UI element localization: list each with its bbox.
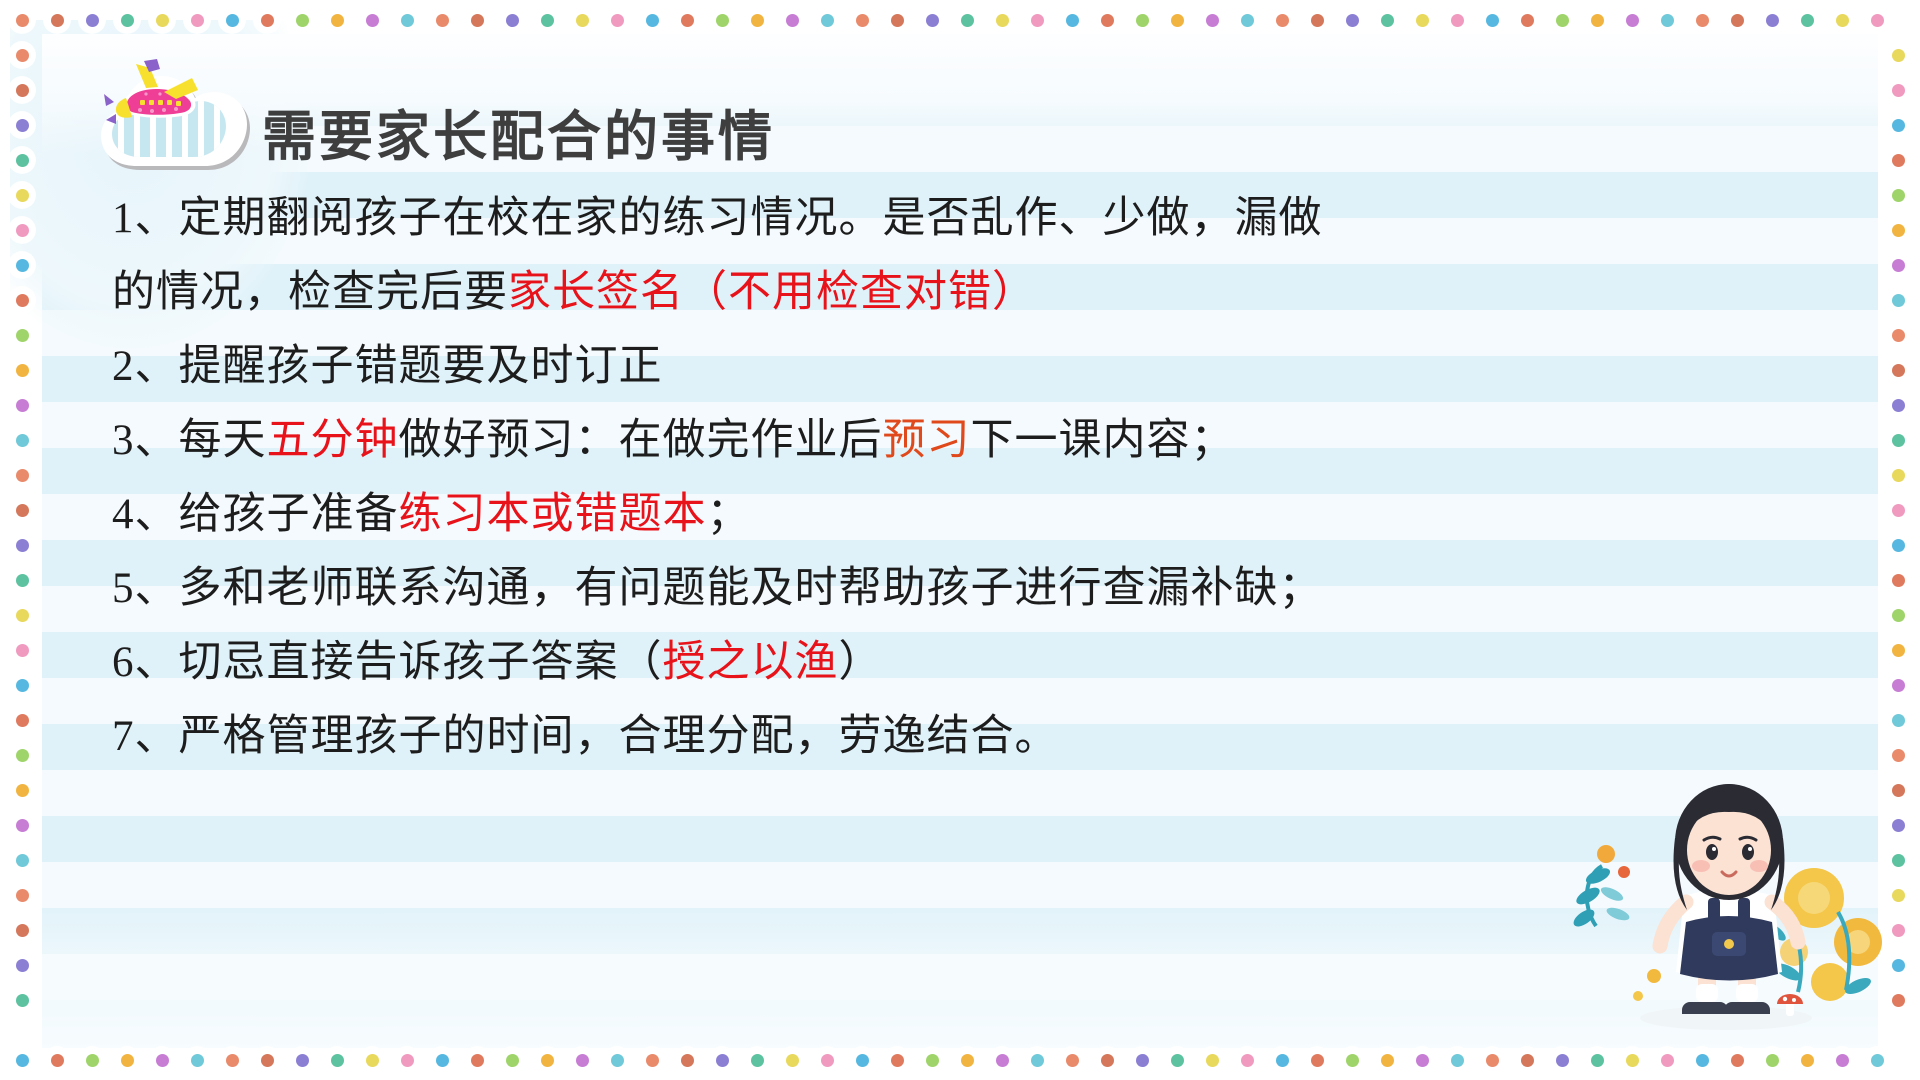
- border-bead-left: [9, 602, 35, 628]
- list-item-text: 切忌直接告诉孩子答案（: [179, 639, 663, 686]
- list-item-text: ）: [839, 639, 883, 686]
- border-bead-bottom: [44, 1047, 70, 1073]
- border-bead-bottom: [1024, 1047, 1050, 1073]
- list-item-number: 1、: [112, 195, 179, 242]
- list-item-highlight: 预习: [883, 417, 971, 464]
- border-bead-right: [1885, 357, 1911, 383]
- border-bead-bottom: [639, 1047, 665, 1073]
- border-bead-bottom: [1619, 1047, 1645, 1073]
- border-bead-left: [9, 777, 35, 803]
- border-bead-left: [9, 322, 35, 348]
- list-item-text: 提醒孩子错题要及时订正: [179, 343, 663, 390]
- border-bead-bottom: [709, 1047, 735, 1073]
- border-bead-right: [1885, 497, 1911, 523]
- list-item-highlight: 五分钟: [267, 417, 399, 464]
- border-bead-bottom: [324, 1047, 350, 1073]
- border-bead-right: [1885, 567, 1911, 593]
- border-bead-bottom: [1514, 1047, 1540, 1073]
- border-bead-right: [1885, 462, 1911, 488]
- border-bead-left: [9, 532, 35, 558]
- list-item-text: 严格管理孩子的时间，合理分配，劳逸结合。: [179, 713, 1059, 760]
- border-bead-right: [1885, 287, 1911, 313]
- border-bead-bottom: [534, 1047, 560, 1073]
- list-item-text: 给孩子准备: [179, 491, 399, 538]
- border-bead-bottom: [604, 1047, 630, 1073]
- border-bead-bottom: [464, 1047, 490, 1073]
- girl-with-flowers-illustration: [1562, 746, 1892, 1046]
- border-bead-right: [1885, 707, 1911, 733]
- border-bead-bottom: [1794, 1047, 1820, 1073]
- list-item-text: 定期翻阅孩子在校在家的练习情况。是否乱作、少做，漏做: [179, 195, 1323, 242]
- border-bead-bottom: [954, 1047, 980, 1073]
- list-item-highlight: 家长签名（不用检查对错）: [508, 269, 1036, 316]
- list-item-text: 多和老师联系沟通，有问题能及时帮助孩子进行查漏补缺；: [179, 565, 1323, 612]
- list-item: 7、严格管理孩子的时间，合理分配，劳逸结合。: [112, 700, 1432, 774]
- slide-canvas: 需要家长配合的事情 1、定期翻阅孩子在校在家的练习情况。是否乱作、少做，漏做的情…: [0, 0, 1920, 1080]
- list-item-number: 4、: [112, 491, 179, 538]
- border-bead-bottom: [289, 1047, 315, 1073]
- border-bead-bottom: [1864, 1047, 1890, 1073]
- border-bead-bottom: [814, 1047, 840, 1073]
- border-bead-left: [9, 812, 35, 838]
- airplane-cloud-icon: [96, 58, 268, 176]
- border-bead-right: [1885, 532, 1911, 558]
- border-bead-bottom: [674, 1047, 700, 1073]
- list-item-number: 3、: [112, 417, 179, 464]
- border-bead-right: [1885, 252, 1911, 278]
- border-bead-bottom: [849, 1047, 875, 1073]
- border-bead-bottom: [1479, 1047, 1505, 1073]
- border-bead-left: [9, 952, 35, 978]
- border-bead-bottom: [219, 1047, 245, 1073]
- border-bead-bottom: [499, 1047, 525, 1073]
- border-bead-bottom: [989, 1047, 1015, 1073]
- list-item-text: ；: [707, 491, 751, 538]
- border-bead-bottom: [744, 1047, 770, 1073]
- list-item: 5、多和老师联系沟通，有问题能及时帮助孩子进行查漏补缺；: [112, 552, 1432, 626]
- border-bead-left: [9, 637, 35, 663]
- border-bead-right: [1885, 217, 1911, 243]
- list-item-number: 7、: [112, 713, 179, 760]
- border-bead-bottom: [1724, 1047, 1750, 1073]
- border-bead-bottom: [114, 1047, 140, 1073]
- parent-cooperation-list: 1、定期翻阅孩子在校在家的练习情况。是否乱作、少做，漏做的情况，检查完后要家长签…: [112, 182, 1432, 774]
- border-bead-bottom: [429, 1047, 455, 1073]
- border-bead-bottom: [1759, 1047, 1785, 1073]
- border-bead-bottom: [1829, 1047, 1855, 1073]
- border-bead-left: [9, 882, 35, 908]
- border-bead-bottom: [1444, 1047, 1470, 1073]
- border-bead-bottom: [1374, 1047, 1400, 1073]
- border-bead-bottom: [884, 1047, 910, 1073]
- list-item: 1、定期翻阅孩子在校在家的练习情况。是否乱作、少做，漏做: [112, 182, 1432, 256]
- border-bead-right: [1885, 392, 1911, 418]
- border-bead-left: [9, 462, 35, 488]
- border-bead-bottom: [1304, 1047, 1330, 1073]
- border-bead-bottom: [184, 1047, 210, 1073]
- border-bead-right: [1885, 322, 1911, 348]
- border-bead-bottom: [1199, 1047, 1225, 1073]
- border-bead-bottom: [1584, 1047, 1610, 1073]
- list-item: 2、提醒孩子错题要及时订正: [112, 330, 1432, 404]
- border-bead-left: [9, 427, 35, 453]
- border-bead-bottom: [1059, 1047, 1085, 1073]
- border-bead-left: [9, 357, 35, 383]
- slide-header: 需要家长配合的事情: [0, 0, 1920, 210]
- border-bead-bottom: [79, 1047, 105, 1073]
- border-bead-bottom: [1689, 1047, 1715, 1073]
- border-bead-bottom: [254, 1047, 280, 1073]
- border-bead-left: [9, 987, 35, 1013]
- list-item-text: 每天: [179, 417, 267, 464]
- border-bead-bottom: [1094, 1047, 1120, 1073]
- border-bead-right: [1885, 427, 1911, 453]
- border-bead-bottom: [569, 1047, 595, 1073]
- border-bead-bottom: [779, 1047, 805, 1073]
- border-bead-bottom: [1164, 1047, 1190, 1073]
- list-item-highlight: 授之以渔: [663, 639, 839, 686]
- border-bead-bottom: [1269, 1047, 1295, 1073]
- list-item-number: 6、: [112, 639, 179, 686]
- border-bead-left: [9, 707, 35, 733]
- list-item: 的情况，检查完后要家长签名（不用检查对错）: [112, 256, 1432, 330]
- list-item-number: 5、: [112, 565, 179, 612]
- border-bead-left: [9, 917, 35, 943]
- list-item: 4、给孩子准备练习本或错题本；: [112, 478, 1432, 552]
- border-bead-right: [1885, 602, 1911, 628]
- border-bead-bottom: [1654, 1047, 1680, 1073]
- border-bead-bottom: [1234, 1047, 1260, 1073]
- border-bead-right: [1885, 637, 1911, 663]
- list-item-text: 做好预习：在做完作业后: [399, 417, 883, 464]
- border-bead-bottom: [9, 1047, 35, 1073]
- list-item: 6、切忌直接告诉孩子答案（授之以渔）: [112, 626, 1432, 700]
- list-item-number: 2、: [112, 343, 179, 390]
- border-bead-left: [9, 847, 35, 873]
- border-bead-bottom: [1129, 1047, 1155, 1073]
- border-bead-left: [9, 217, 35, 243]
- list-item-highlight: 练习本或错题本: [399, 491, 707, 538]
- border-bead-bottom: [359, 1047, 385, 1073]
- border-bead-left: [9, 497, 35, 523]
- border-bead-bottom: [1339, 1047, 1365, 1073]
- border-bead-left: [9, 252, 35, 278]
- border-bead-bottom: [149, 1047, 175, 1073]
- border-bead-right: [1885, 672, 1911, 698]
- list-item-text: 下一课内容；: [971, 417, 1235, 464]
- border-bead-left: [9, 672, 35, 698]
- page-title: 需要家长配合的事情: [262, 92, 775, 171]
- border-bead-left: [9, 287, 35, 313]
- list-item: 3、每天五分钟做好预习：在做完作业后预习下一课内容；: [112, 404, 1432, 478]
- border-bead-bottom: [1549, 1047, 1575, 1073]
- list-item-text: 的情况，检查完后要: [112, 269, 508, 316]
- border-bead-bottom: [919, 1047, 945, 1073]
- border-bead-left: [9, 392, 35, 418]
- border-bead-left: [9, 742, 35, 768]
- border-bead-bottom: [394, 1047, 420, 1073]
- border-bead-left: [9, 567, 35, 593]
- border-bead-bottom: [1409, 1047, 1435, 1073]
